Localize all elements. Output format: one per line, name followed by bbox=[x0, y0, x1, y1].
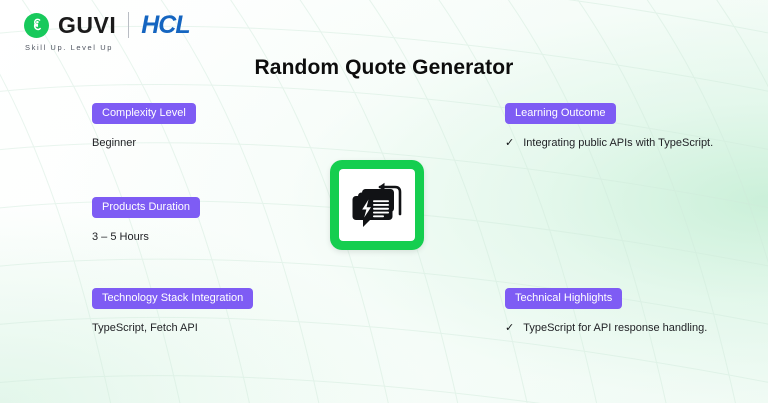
learning-outcome-badge: Learning Outcome bbox=[505, 103, 616, 124]
page-title: Random Quote Generator bbox=[0, 56, 768, 80]
duration-badge: Products Duration bbox=[92, 197, 200, 218]
tech-stack-value: TypeScript, Fetch API bbox=[92, 321, 253, 336]
complexity-badge: Complexity Level bbox=[92, 103, 196, 124]
technical-highlights-item: TypeScript for API response handling. bbox=[523, 321, 707, 336]
tech-stack-block: Technology Stack Integration TypeScript,… bbox=[92, 288, 253, 336]
hcl-wordmark: HCL bbox=[141, 13, 189, 38]
guvi-g-mark-icon bbox=[24, 13, 49, 38]
checkmark-icon: ✓ bbox=[505, 321, 514, 336]
checkmark-icon: ✓ bbox=[505, 136, 514, 151]
learning-outcome-block: Learning Outcome ✓ Integrating public AP… bbox=[505, 103, 735, 151]
list-item: ✓ Integrating public APIs with TypeScrip… bbox=[505, 136, 735, 151]
brand-lockup: GUVI HCL Skill Up. Level Up bbox=[24, 12, 190, 52]
learning-outcome-item: Integrating public APIs with TypeScript. bbox=[523, 136, 713, 151]
technical-highlights-badge: Technical Highlights bbox=[505, 288, 622, 309]
slide-canvas: GUVI HCL Skill Up. Level Up Random Quote… bbox=[0, 0, 768, 403]
brand-tagline: Skill Up. Level Up bbox=[25, 43, 190, 52]
technical-highlights-block: Technical Highlights ✓ TypeScript for AP… bbox=[505, 288, 755, 336]
tech-stack-badge: Technology Stack Integration bbox=[92, 288, 253, 309]
quote-bubbles-refresh-icon bbox=[339, 169, 415, 241]
logo-divider bbox=[128, 12, 129, 38]
brand-logos-row: GUVI HCL bbox=[24, 12, 190, 38]
complexity-block: Complexity Level Beginner bbox=[92, 103, 196, 151]
duration-block: Products Duration 3 – 5 Hours bbox=[92, 197, 200, 245]
guvi-wordmark: GUVI bbox=[58, 14, 116, 37]
complexity-value: Beginner bbox=[92, 136, 196, 151]
project-icon-tile bbox=[330, 160, 424, 250]
duration-value: 3 – 5 Hours bbox=[92, 230, 200, 245]
list-item: ✓ TypeScript for API response handling. bbox=[505, 321, 755, 336]
